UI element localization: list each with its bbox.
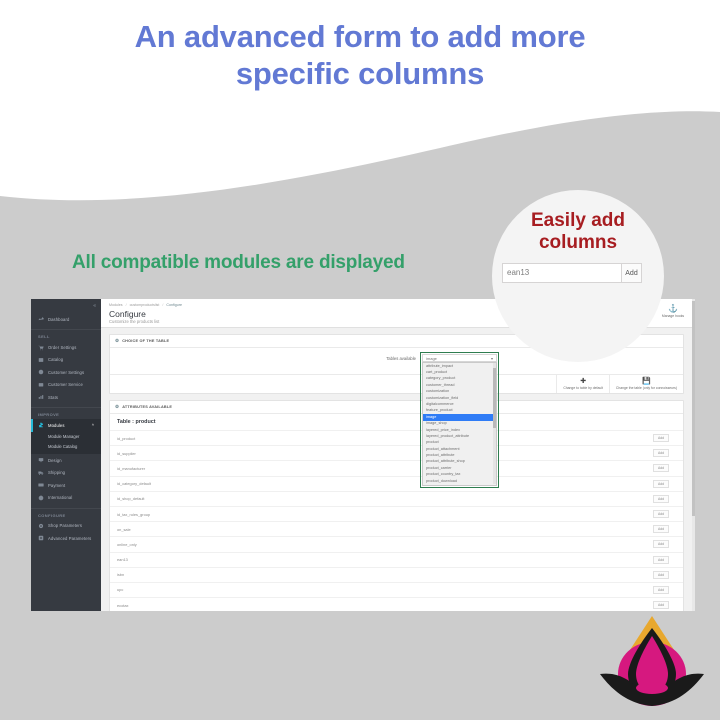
stats-icon — [38, 394, 44, 400]
panel-footer: ✚ Change to table by default 💾 Change th… — [110, 374, 683, 393]
tables-available-options[interactable]: attribute_impactcart_productcategory_pro… — [422, 362, 497, 486]
sidebar-item-label: Advanced Parameters — [48, 536, 91, 541]
attribute-name-cell: id_category_default — [110, 476, 623, 491]
table-row: id_category_defaultAdd — [110, 476, 683, 491]
table-row: id_supplierAdd — [110, 446, 683, 461]
add-column-button[interactable]: Add — [653, 434, 669, 442]
add-column-button[interactable]: Add — [653, 495, 669, 503]
table-row: upcAdd — [110, 582, 683, 597]
sidebar-item-shipping[interactable]: Shipping — [31, 467, 101, 479]
attribute-action-cell: Add — [623, 446, 683, 461]
sidebar-item-label: Shipping — [48, 470, 65, 475]
attribute-name-cell: id_manufacturer — [110, 461, 623, 476]
sidebar-item-label: Dashboard — [48, 317, 69, 322]
change-table-default-button[interactable]: ✚ Change to table by default — [556, 375, 609, 393]
design-icon — [38, 457, 44, 463]
breadcrumb-separator: / — [162, 303, 163, 307]
breadcrumb-item-current: Configure — [166, 303, 182, 307]
attribute-action-cell: Add — [623, 476, 683, 491]
sidebar-section-configure: CONFIGURE — [31, 508, 101, 520]
attribute-action-cell: Add — [623, 491, 683, 506]
add-column-button[interactable]: Add — [653, 480, 669, 488]
brand-mascot-logo — [598, 612, 706, 712]
breadcrumb-item-modules[interactable]: Modules — [109, 303, 123, 307]
sidebar-item-stats[interactable]: Stats — [31, 391, 101, 403]
sidebar-collapse-icon[interactable]: « — [93, 303, 96, 309]
add-column-button[interactable]: Add — [653, 449, 669, 457]
sidebar-item-dashboard[interactable]: Dashboard — [31, 313, 101, 325]
chevron-up-icon: ^ — [92, 423, 94, 428]
table-option[interactable]: product_group_reduction_cache — [423, 484, 496, 486]
table-row: id_shop_defaultAdd — [110, 491, 683, 506]
sidebar-item-design[interactable]: Design — [31, 454, 101, 466]
service-icon — [38, 382, 44, 388]
dashboard-icon — [38, 316, 44, 322]
sidebar-subitem-module-manager[interactable]: Module Manager — [31, 432, 101, 442]
attribute-name-cell: id_supplier — [110, 446, 623, 461]
page-title-line2: specific columns — [0, 55, 720, 92]
panel-header-label: CHOICE OF THE TABLE — [122, 339, 169, 343]
customer-icon — [38, 369, 44, 375]
sidebar-item-label: Design — [48, 458, 62, 463]
attribute-action-cell: Add — [623, 522, 683, 537]
attribute-action-cell: Add — [623, 582, 683, 597]
attribute-action-cell: Add — [623, 552, 683, 567]
page-title: An advanced form to add more specific co… — [0, 18, 720, 92]
add-column-button[interactable]: Add — [653, 540, 669, 548]
reset-icon: ✚ — [563, 378, 603, 386]
footer-button-label: Change the table (only for connoisseurs) — [616, 386, 677, 390]
breadcrumb-item-module[interactable]: customproductslist — [130, 303, 160, 307]
sidebar-section-improve: IMPROVE — [31, 407, 101, 419]
breadcrumb-separator: / — [126, 303, 127, 307]
table-row: ecotaxAdd — [110, 598, 683, 611]
save-icon: 💾 — [616, 378, 677, 386]
shop-params-icon — [38, 523, 44, 529]
add-column-button[interactable]: Add — [653, 571, 669, 579]
table-row: id_productAdd — [110, 431, 683, 446]
sidebar-item-catalog[interactable]: Catalog — [31, 354, 101, 366]
gear-icon: ⚙ — [115, 404, 119, 410]
toolbar-manage-hooks-button[interactable]: ⚓ Manage hooks — [660, 304, 686, 318]
payment-icon — [38, 482, 44, 488]
attribute-name-cell: upc — [110, 582, 623, 597]
tables-available-select-wrap: image ▾ attribute_impactcart_productcate… — [422, 354, 497, 362]
attribute-name-cell: id_tax_rules_group — [110, 506, 623, 521]
sidebar-item-label: Order Settings — [48, 345, 76, 350]
attribute-name-cell: on_sale — [110, 522, 623, 537]
change-table-button[interactable]: 💾 Change the table (only for connoisseur… — [609, 375, 683, 393]
attribute-action-cell: Add — [623, 598, 683, 611]
table-row: on_saleAdd — [110, 522, 683, 537]
attribute-name-cell: isbn — [110, 567, 623, 582]
panel-header-label: ATTRIBUTES AVAILABLE — [122, 405, 172, 409]
add-column-button[interactable]: Add — [653, 525, 669, 533]
callout-title-line2: columns — [492, 232, 664, 254]
tables-available-select[interactable]: image ▾ — [422, 354, 497, 362]
attribute-action-cell: Add — [623, 461, 683, 476]
panel-header: ⚙ ATTRIBUTES AVAILABLE — [110, 401, 683, 414]
attribute-action-cell: Add — [623, 506, 683, 521]
table-row: id_tax_rules_groupAdd — [110, 506, 683, 521]
options-scrollbar-thumb[interactable] — [493, 368, 496, 428]
sidebar-item-modules[interactable]: Modules ^ — [31, 419, 101, 431]
sidebar-item-advanced-parameters[interactable]: Advanced Parameters — [31, 532, 101, 544]
chevron-down-icon: ▾ — [491, 356, 493, 361]
toolbar-label: Manage hooks — [660, 314, 686, 318]
admin-sidebar: « Dashboard SELL Order Settings — [31, 299, 101, 611]
add-column-button[interactable]: Add — [653, 464, 669, 472]
tables-available-label: Tables available — [296, 354, 416, 361]
callout-add-form: Add — [502, 263, 642, 283]
add-column-button[interactable]: Add — [653, 601, 669, 609]
attribute-name-cell: online_only — [110, 537, 623, 552]
sidebar-item-customer-service[interactable]: Customer Service — [31, 379, 101, 391]
sidebar-nav: Dashboard SELL Order Settings Catalog — [31, 299, 101, 544]
sidebar-item-label: Customer Service — [48, 382, 83, 387]
footer-button-label: Change to table by default — [563, 386, 603, 390]
shipping-icon — [38, 470, 44, 476]
sidebar-item-label: Shop Parameters — [48, 523, 82, 528]
anchor-icon: ⚓ — [660, 304, 686, 314]
gear-icon: ⚙ — [115, 338, 119, 344]
sidebar-submenu-modules: Module Manager Module Catalog — [31, 432, 101, 455]
attribute-action-cell: Add — [623, 567, 683, 582]
table-row: ean13Add — [110, 552, 683, 567]
attributes-table-title: Table : product — [110, 414, 683, 430]
callout-column-input[interactable] — [502, 263, 621, 283]
attribute-name-cell: ecotax — [110, 598, 623, 611]
add-column-button[interactable]: Add — [653, 556, 669, 564]
attribute-name-cell: ean13 — [110, 552, 623, 567]
table-row: id_manufacturerAdd — [110, 461, 683, 476]
attribute-action-cell: Add — [623, 431, 683, 446]
sidebar-item-payment[interactable]: Payment — [31, 479, 101, 491]
sidebar-item-label: Payment — [48, 483, 65, 488]
attributes-table: id_productAddid_supplierAddid_manufactur… — [110, 430, 683, 611]
sidebar-item-label: International — [48, 495, 72, 500]
catalog-icon — [38, 357, 44, 363]
sidebar-item-customer-settings[interactable]: Customer Settings — [31, 366, 101, 378]
cart-icon — [38, 345, 44, 351]
add-column-button[interactable]: Add — [653, 510, 669, 518]
page-title-line1: An advanced form to add more — [0, 18, 720, 55]
sidebar-item-shop-parameters[interactable]: Shop Parameters — [31, 520, 101, 532]
sidebar-item-international[interactable]: International — [31, 491, 101, 503]
panel-attributes-available: ⚙ ATTRIBUTES AVAILABLE Table : product i… — [109, 400, 684, 611]
table-row: online_onlyAdd — [110, 537, 683, 552]
modules-displayed-label: All compatible modules are displayed — [72, 252, 405, 274]
sidebar-item-label: Modules — [48, 423, 65, 428]
callout-title: Easily add columns — [492, 210, 664, 254]
sidebar-item-order-settings[interactable]: Order Settings — [31, 341, 101, 353]
callout-title-line1: Easily add — [492, 210, 664, 232]
modules-icon — [38, 422, 44, 428]
add-column-button[interactable]: Add — [653, 586, 669, 594]
attribute-name-cell: id_product — [110, 431, 623, 446]
sidebar-item-label: Stats — [48, 395, 58, 400]
admin-scrollbar-thumb[interactable] — [692, 301, 695, 516]
sidebar-item-label: Customer Settings — [48, 370, 84, 375]
sidebar-item-label: Catalog — [48, 357, 63, 362]
advanced-params-icon — [38, 535, 44, 541]
table-row: isbnAdd — [110, 567, 683, 582]
callout-add-button[interactable]: Add — [621, 263, 642, 283]
sidebar-section-sell: SELL — [31, 329, 101, 341]
select-value: image — [426, 356, 437, 361]
international-icon — [38, 495, 44, 501]
attribute-action-cell: Add — [623, 537, 683, 552]
sidebar-subitem-module-catalog[interactable]: Module Catalog — [31, 441, 101, 451]
slide-root: An advanced form to add more specific co… — [0, 0, 720, 720]
attribute-name-cell: id_shop_default — [110, 491, 623, 506]
